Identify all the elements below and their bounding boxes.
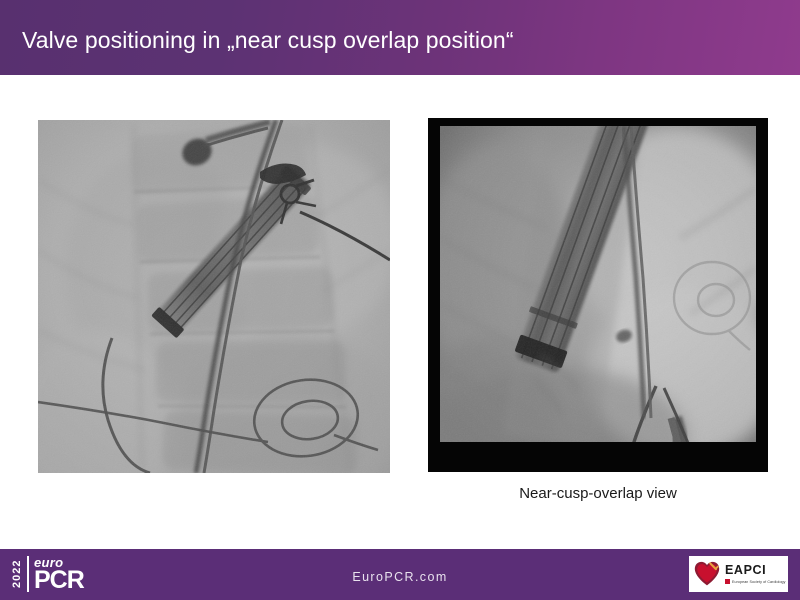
eapci-subtitle-row: European Society of Cardiology [725, 579, 786, 584]
fluoroscopy-image-right [428, 118, 768, 472]
heart-icon [694, 561, 720, 587]
esc-square-icon [725, 579, 730, 584]
fluoroscopy-right-graphic [428, 118, 768, 472]
eapci-subtitle: European Society of Cardiology [732, 580, 786, 584]
fluoroscopy-image-left [38, 120, 390, 473]
eapci-text-block: EAPCI European Society of Cardiology [725, 564, 786, 585]
image-caption-right: Near-cusp-overlap view [428, 485, 768, 502]
page-title: Valve positioning in „near cusp overlap … [22, 27, 514, 54]
fluoroscopy-left-graphic [38, 120, 390, 473]
eapci-name: EAPCI [725, 564, 786, 577]
eapci-logo: EAPCI European Society of Cardiology [689, 556, 788, 592]
footer-website-url: EuroPCR.com [0, 570, 800, 584]
